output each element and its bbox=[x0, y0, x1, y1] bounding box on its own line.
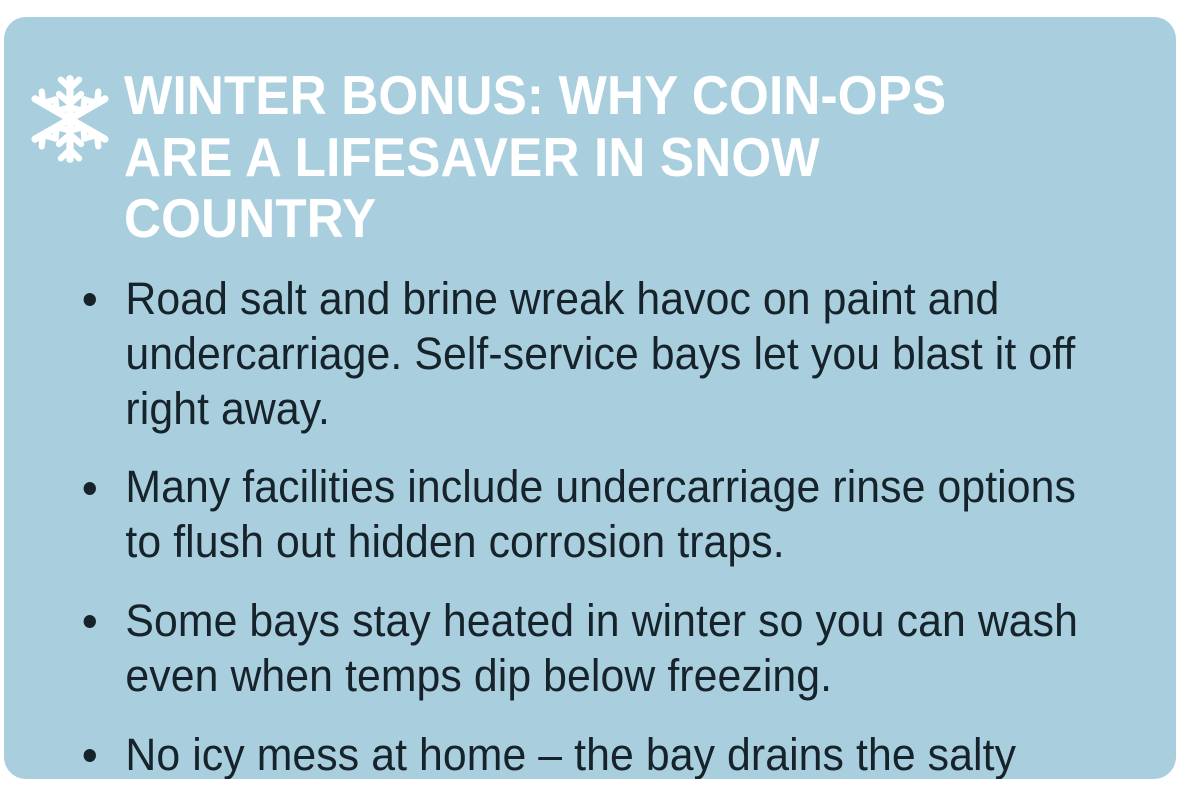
list-item-text: Road salt and brine wreak havoc on paint… bbox=[125, 272, 1088, 437]
list-item: Many facilities include undercarriage ri… bbox=[76, 460, 1089, 570]
list-item-text: Some bays stay heated in winter so you c… bbox=[125, 594, 1088, 704]
list-item-text: No icy mess at home – the bay drains the… bbox=[125, 728, 1088, 779]
list-item: No icy mess at home – the bay drains the… bbox=[76, 728, 1089, 779]
bullet-dot-icon bbox=[84, 293, 96, 306]
bullet-dot-icon bbox=[84, 749, 96, 762]
snowflake-icon bbox=[22, 71, 118, 167]
list-item: Some bays stay heated in winter so you c… bbox=[76, 594, 1089, 704]
list-item: Road salt and brine wreak havoc on paint… bbox=[76, 272, 1089, 437]
bullet-dot-icon bbox=[84, 615, 96, 628]
card-header: WINTER BONUS: WHY COIN-OPS ARE A LIFESAV… bbox=[4, 17, 1176, 250]
bullet-dot-icon bbox=[84, 482, 96, 495]
benefit-bullet-list: Road salt and brine wreak havoc on paint… bbox=[4, 272, 1176, 779]
winter-bonus-callout-card: WINTER BONUS: WHY COIN-OPS ARE A LIFESAV… bbox=[4, 17, 1176, 779]
list-item-text: Many facilities include undercarriage ri… bbox=[125, 460, 1088, 570]
card-title: WINTER BONUS: WHY COIN-OPS ARE A LIFESAV… bbox=[124, 65, 1065, 250]
